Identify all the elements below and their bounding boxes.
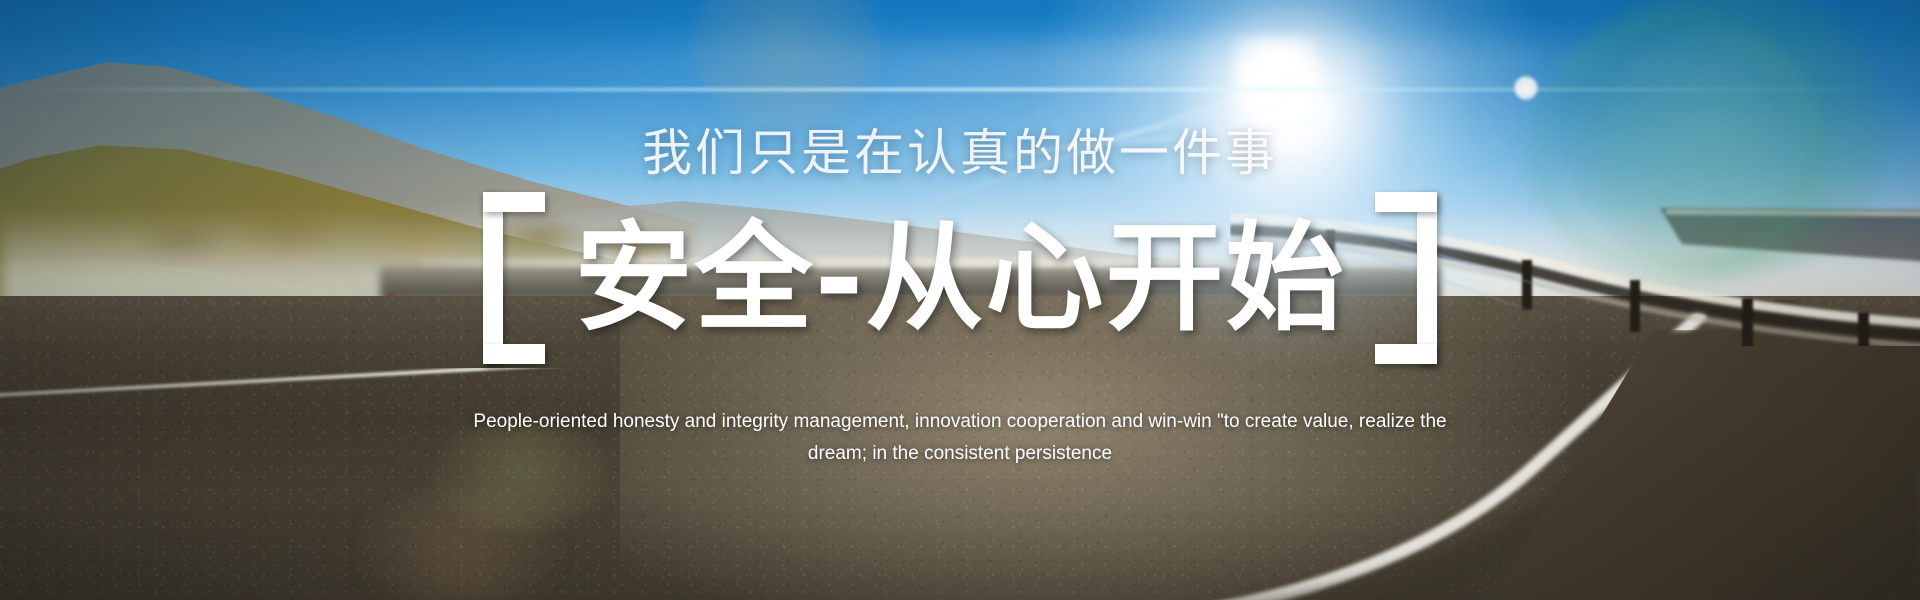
hero-banner: 我们只是在认真的做一件事 安全-从心开始 People-oriented hon… [0,0,1920,600]
left-lane-line [0,368,880,428]
lens-flare-orb [1514,76,1538,100]
lens-flare-ground-2 [360,490,560,600]
lens-flare-teal [1600,30,1820,220]
